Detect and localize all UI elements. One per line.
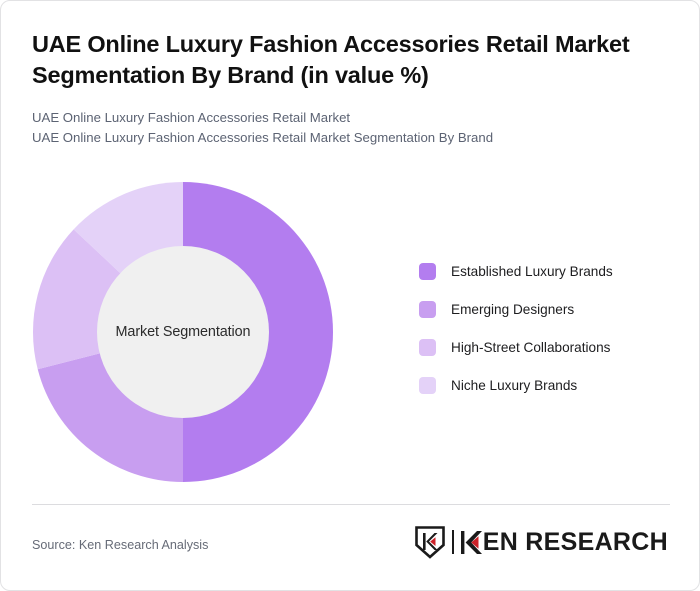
chart-legend: Established Luxury BrandsEmerging Design… — [419, 263, 613, 394]
ken-research-logo: EN RESEARCH — [414, 525, 668, 559]
donut-hole — [97, 246, 269, 418]
logo-text: EN RESEARCH — [483, 530, 668, 555]
donut-chart: Market Segmentation — [33, 182, 333, 482]
legend-label: High-Street Collaborations — [451, 340, 610, 355]
legend-swatch — [419, 263, 436, 280]
legend-swatch — [419, 339, 436, 356]
legend-label: Established Luxury Brands — [451, 264, 613, 279]
legend-item[interactable]: Niche Luxury Brands — [419, 377, 613, 394]
source-note: Source: Ken Research Analysis — [32, 538, 208, 552]
plot-area: Market Segmentation Established Luxury B… — [1, 167, 700, 502]
chart-card: UAE Online Luxury Fashion Accessories Re… — [0, 0, 700, 591]
chart-header: UAE Online Luxury Fashion Accessories Re… — [32, 29, 672, 149]
logo-wordmark: EN RESEARCH — [461, 530, 668, 555]
legend-item[interactable]: Established Luxury Brands — [419, 263, 613, 280]
footer-divider — [32, 504, 670, 505]
legend-swatch — [419, 377, 436, 394]
ken-research-shield-icon — [414, 525, 446, 559]
logo-divider — [452, 530, 454, 554]
legend-label: Niche Luxury Brands — [451, 378, 577, 393]
donut-svg — [33, 182, 333, 482]
logo-k-icon — [461, 530, 483, 555]
subtitle-block: UAE Online Luxury Fashion Accessories Re… — [32, 108, 672, 150]
legend-swatch — [419, 301, 436, 318]
legend-item[interactable]: Emerging Designers — [419, 301, 613, 318]
subtitle-line-1: UAE Online Luxury Fashion Accessories Re… — [32, 108, 672, 129]
subtitle-line-2: UAE Online Luxury Fashion Accessories Re… — [32, 128, 672, 149]
legend-label: Emerging Designers — [451, 302, 574, 317]
legend-item[interactable]: High-Street Collaborations — [419, 339, 613, 356]
page-title: UAE Online Luxury Fashion Accessories Re… — [32, 29, 672, 92]
